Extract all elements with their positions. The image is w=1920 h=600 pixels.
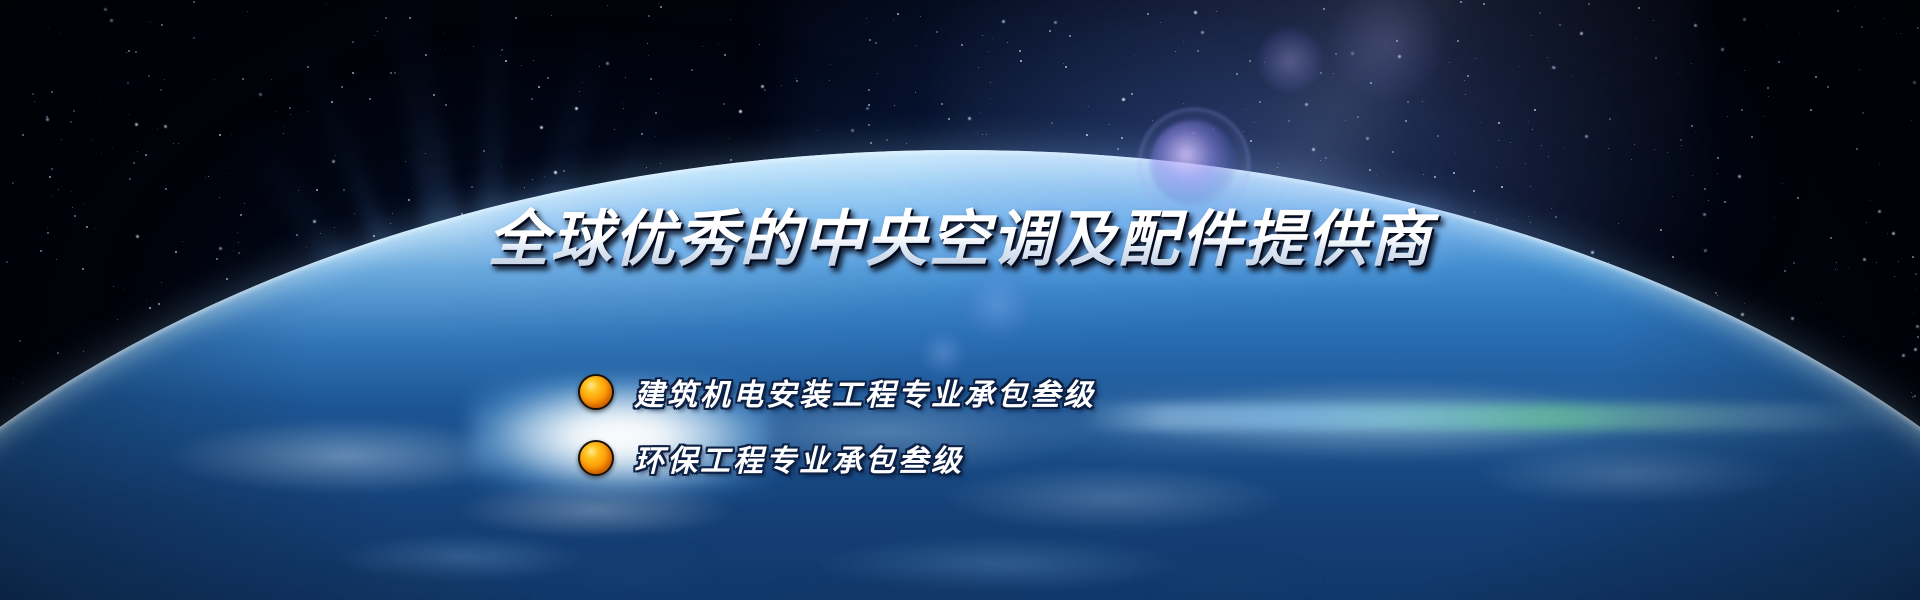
hero-banner: 全球优秀的中央空调及配件提供商 建筑机电安装工程专业承包叁级 环保工程专业承包叁… [0,0,1920,600]
list-item: 建筑机电安装工程专业承包叁级 [578,370,1096,414]
list-item: 环保工程专业承包叁级 [578,436,1096,480]
bullet-label: 环保工程专业承包叁级 [634,436,964,480]
banner-content: 全球优秀的中央空调及配件提供商 建筑机电安装工程专业承包叁级 环保工程专业承包叁… [0,0,1920,600]
bullet-label: 建筑机电安装工程专业承包叁级 [634,370,1096,414]
banner-headline: 全球优秀的中央空调及配件提供商 [0,206,1920,274]
orange-sphere-bullet-icon [578,440,614,476]
orange-sphere-bullet-icon [578,374,614,410]
banner-bullet-list: 建筑机电安装工程专业承包叁级 环保工程专业承包叁级 [578,370,1096,480]
